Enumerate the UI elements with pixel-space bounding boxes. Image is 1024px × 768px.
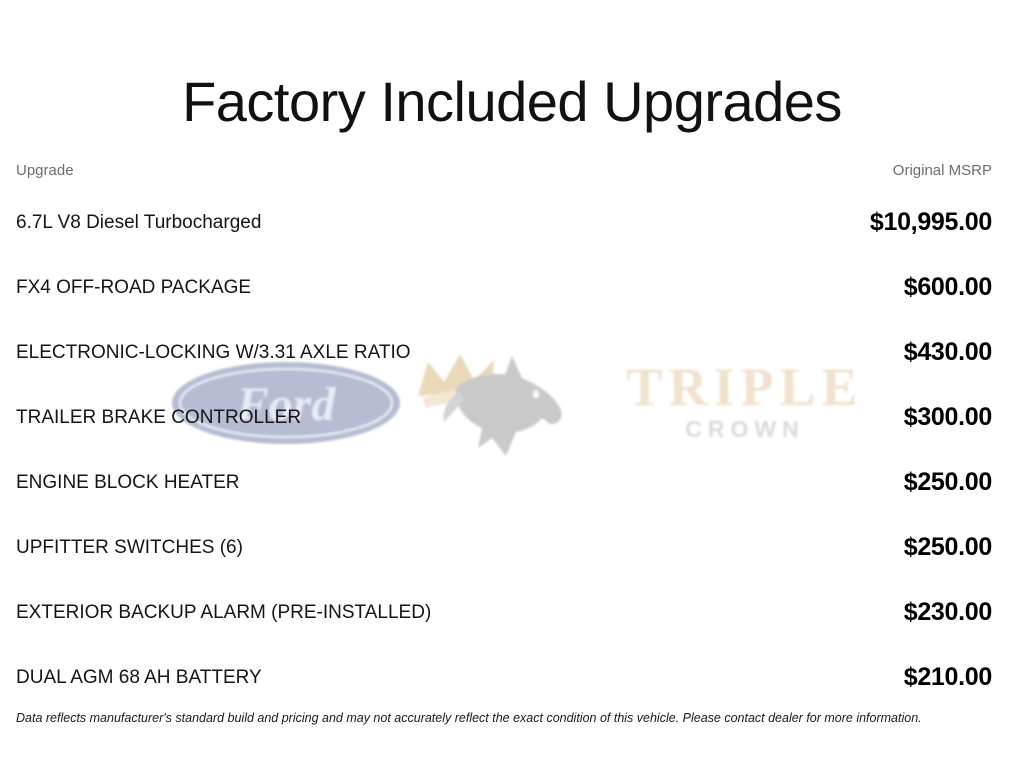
table-row: TRAILER BRAKE CONTROLLER $300.00 (0, 385, 1024, 450)
upgrade-name: ELECTRONIC-LOCKING W/3.31 AXLE RATIO (16, 342, 880, 364)
table-row: ELECTRONIC-LOCKING W/3.31 AXLE RATIO $43… (0, 320, 1024, 385)
upgrade-name: 6.7L V8 Diesel Turbocharged (16, 212, 846, 234)
upgrade-name: ENGINE BLOCK HEATER (16, 472, 880, 494)
upgrade-name: DUAL AGM 68 AH BATTERY (16, 667, 880, 689)
page-title: Factory Included Upgrades (0, 68, 1024, 136)
upgrade-price: $230.00 (880, 598, 992, 627)
upgrade-price: $250.00 (880, 533, 992, 562)
upgrade-name: EXTERIOR BACKUP ALARM (PRE-INSTALLED) (16, 602, 880, 624)
table-row: EXTERIOR BACKUP ALARM (PRE-INSTALLED) $2… (0, 580, 1024, 645)
upgrades-table: Upgrade Original MSRP 6.7L V8 Diesel Tur… (0, 150, 1024, 710)
upgrade-price: $600.00 (880, 273, 992, 302)
column-header-upgrade: Upgrade (16, 162, 869, 179)
table-row: DUAL AGM 68 AH BATTERY $210.00 (0, 645, 1024, 710)
upgrade-price: $210.00 (880, 663, 992, 692)
upgrade-price: $300.00 (880, 403, 992, 432)
upgrade-price: $10,995.00 (846, 208, 992, 237)
table-row: ENGINE BLOCK HEATER $250.00 (0, 450, 1024, 515)
column-header-original-msrp: Original MSRP (869, 162, 992, 179)
upgrade-name: TRAILER BRAKE CONTROLLER (16, 407, 880, 429)
table-row: FX4 OFF-ROAD PACKAGE $600.00 (0, 255, 1024, 320)
table-row: 6.7L V8 Diesel Turbocharged $10,995.00 (0, 190, 1024, 255)
upgrade-price: $250.00 (880, 468, 992, 497)
disclaimer-text: Data reflects manufacturer's standard bu… (16, 710, 1008, 726)
upgrade-name: FX4 OFF-ROAD PACKAGE (16, 277, 880, 299)
upgrades-page: Ford TRIPLE CROWN Fac (0, 0, 1024, 768)
table-header-row: Upgrade Original MSRP (0, 150, 1024, 190)
upgrade-name: UPFITTER SWITCHES (6) (16, 537, 880, 559)
upgrade-price: $430.00 (880, 338, 992, 367)
table-row: UPFITTER SWITCHES (6) $250.00 (0, 515, 1024, 580)
